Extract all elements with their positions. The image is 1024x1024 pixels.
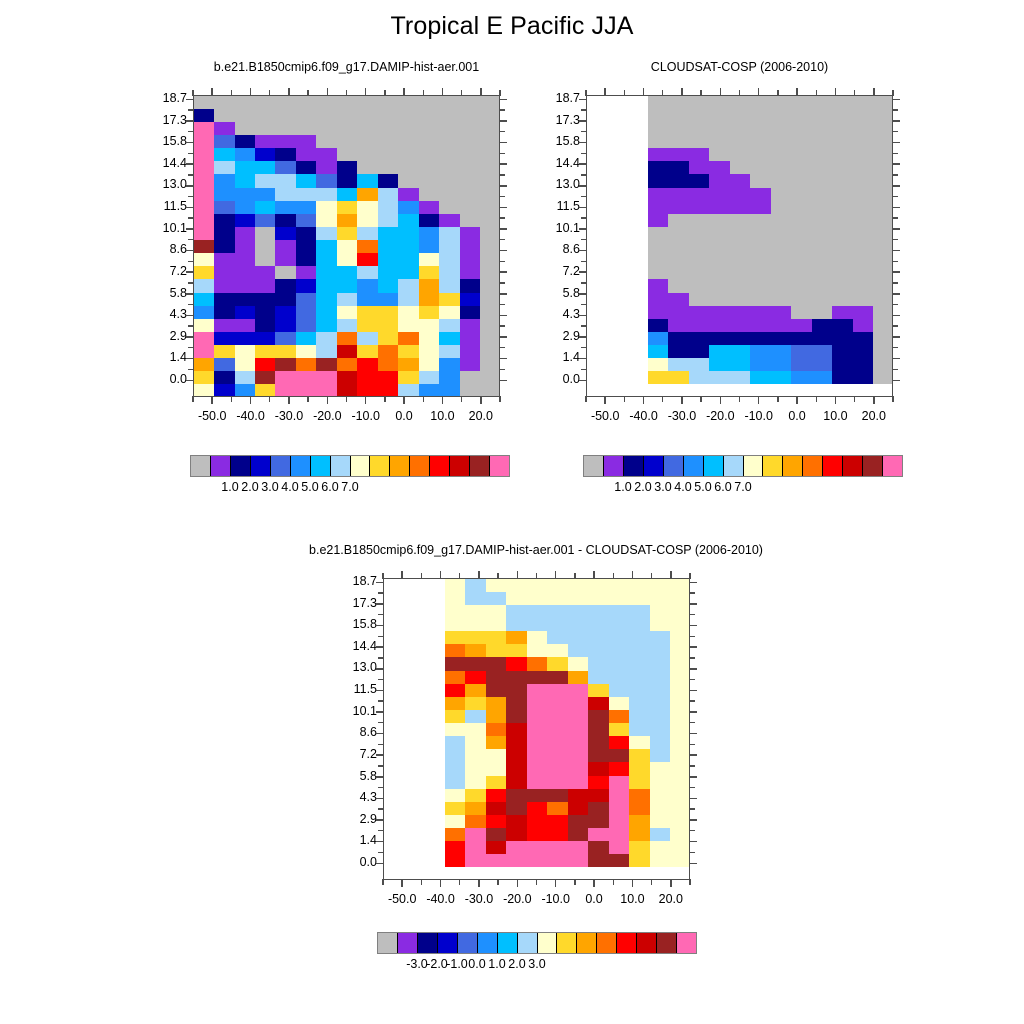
diff-xtick-minor [670,573,671,579]
heatmap-cell [629,841,650,855]
heatmap-cell [425,710,446,724]
colorbar-swatch[interactable] [490,456,509,476]
heatmap-cell [709,240,730,254]
heatmap-cell [812,122,833,136]
heatmap-cell [812,148,833,162]
heatmap-cell [527,605,548,619]
colorbar-swatch[interactable] [843,456,863,476]
heatmap-cell [486,618,507,632]
obs-xtick-label: 20.0 [844,409,904,423]
colorbar-swatch[interactable] [398,933,418,953]
obs-ytick [579,163,587,165]
colorbar-swatch[interactable] [351,456,371,476]
heatmap-cell [750,306,771,320]
colorbar-tick-label: 7.0 [325,480,375,494]
heatmap-cell [255,109,276,123]
colorbar-swatch[interactable] [311,456,331,476]
model-ytick-minor [188,369,194,370]
colorbar-swatch[interactable] [390,456,410,476]
heatmap-cell [609,802,630,816]
heatmap-cell [832,227,853,241]
colorbar-swatch[interactable] [863,456,883,476]
heatmap-cell [812,371,833,385]
heatmap-cell [812,188,833,202]
panel-diff-title: b.e21.B1850cmip6.f09_g17.DAMIP-hist-aer.… [236,543,836,557]
heatmap-cell [235,214,256,228]
model-ytick-label: 2.9 [137,329,187,343]
heatmap-cell [296,148,317,162]
heatmap-cell [873,96,893,110]
heatmap-cell [568,776,589,790]
colorbar-swatch[interactable] [430,456,450,476]
obs-ytick-right [892,293,900,295]
heatmap-cell [439,293,460,307]
heatmap-cell [709,135,730,149]
heatmap-cell [384,828,405,842]
heatmap-cell [316,214,337,228]
obs-xtick-minor [854,90,855,96]
heatmap-cell [771,201,792,215]
heatmap-cell [255,188,276,202]
plot-area-obs[interactable] [586,95,893,397]
heatmap-cell [832,161,853,175]
heatmap-cell [337,266,358,280]
heatmap-cell [275,227,296,241]
heatmap-cell [648,135,669,149]
heatmap-cell [588,579,609,593]
colorbar-swatch[interactable] [604,456,624,476]
heatmap-cell [296,332,317,346]
heatmap-cell [214,122,235,136]
diff-ytick-minor [378,787,384,788]
heatmap-cell [527,828,548,842]
obs-ytick [579,142,587,144]
heatmap-cell [527,592,548,606]
colorbar-swatch[interactable] [637,933,657,953]
obs-ytick-label: 8.6 [530,242,580,256]
colorbar-swatch[interactable] [724,456,744,476]
diff-xtick-minor [382,573,383,579]
heatmap-cell [730,227,751,241]
heatmap-cell [587,201,608,215]
heatmap-cell [194,240,215,254]
heatmap-cell [689,96,710,110]
colorbar-swatch[interactable] [677,933,696,953]
heatmap-cell [628,253,649,267]
heatmap-cell [439,188,460,202]
heatmap-cell [255,96,276,110]
heatmap-cell [587,253,608,267]
heatmap-cell [629,828,650,842]
diff-ytick-minor [689,765,695,766]
diff-xtick-minor [689,879,690,885]
heatmap-cell [730,371,751,385]
heatmap-cell [419,188,440,202]
heatmap-cell [670,802,690,816]
heatmap-cell [378,319,399,333]
heatmap-cell [568,762,589,776]
heatmap-cell [480,384,500,397]
heatmap-cell [486,749,507,763]
heatmap-cell [404,631,425,645]
heatmap-cell [465,592,486,606]
heatmap-cell [689,122,710,136]
diff-ytick [376,711,384,713]
colorbar-obs[interactable] [583,455,903,477]
colorbar-swatch[interactable] [450,456,470,476]
heatmap-cell [235,371,256,385]
obs-ytick-minor [892,109,898,110]
heatmap-cell [460,319,481,333]
obs-ytick-right [892,185,900,187]
heatmap-cell [255,319,276,333]
heatmap-cell [771,109,792,123]
heatmap-cell [791,227,812,241]
heatmap-cell [460,371,481,385]
colorbar-swatch[interactable] [557,933,577,953]
colorbar-swatch[interactable] [410,456,430,476]
heatmap-cell [486,854,507,868]
heatmap-cell [587,174,608,188]
diff-ytick-label: 7.2 [327,747,377,761]
heatmap-cell [750,345,771,359]
heatmap-cell [629,605,650,619]
diff-xtick-minor [382,879,383,885]
heatmap-cell [527,671,548,685]
colorbar-swatch[interactable] [763,456,783,476]
colorbar-swatch[interactable] [458,933,478,953]
heatmap-cell [628,358,649,372]
colorbar-swatch[interactable] [291,456,311,476]
heatmap-cell [689,332,710,346]
heatmap-cell [194,358,215,372]
heatmap-cell [296,253,317,267]
colorbar-swatch[interactable] [370,456,390,476]
colorbar-swatch[interactable] [378,933,398,953]
heatmap-cell [832,371,853,385]
heatmap-cell [337,148,358,162]
heatmap-cell [255,253,276,267]
heatmap-cell [587,214,608,228]
heatmap-cell [439,358,460,372]
obs-ytick-minor [581,239,587,240]
heatmap-cell [812,358,833,372]
model-ytick [186,315,194,317]
heatmap-cell [465,579,486,593]
heatmap-cell [235,306,256,320]
heatmap-cell [628,240,649,254]
heatmap-cell [486,828,507,842]
diff-ytick-label: 18.7 [327,574,377,588]
heatmap-cell [791,188,812,202]
heatmap-cell [384,592,405,606]
heatmap-cell [668,109,689,123]
heatmap-cell [480,293,500,307]
heatmap-cell [607,214,628,228]
heatmap-cell [629,815,650,829]
heatmap-cell [689,306,710,320]
heatmap-cell [425,618,446,632]
heatmap-cell [670,749,690,763]
colorbar-swatch[interactable] [783,456,803,476]
obs-ytick-minor [892,174,898,175]
obs-ytick-minor [581,369,587,370]
heatmap-cell [668,266,689,280]
heatmap-cell [445,697,466,711]
heatmap-cell [235,227,256,241]
colorbar-swatch[interactable] [271,456,291,476]
plot-area-diff[interactable] [383,578,690,880]
colorbar-swatch[interactable] [251,456,271,476]
heatmap-cell [506,592,527,606]
model-ytick [186,336,194,338]
heatmap-cell [486,671,507,685]
heatmap-cell [873,345,893,359]
heatmap-cell [750,332,771,346]
colorbar-swatch[interactable] [331,456,351,476]
obs-ytick-right [892,142,900,144]
heatmap-cell [853,384,874,397]
heatmap-cell [194,253,215,267]
heatmap-cell [506,854,527,868]
colorbar-swatch[interactable] [538,933,558,953]
heatmap-cell [607,345,628,359]
heatmap-cell [214,319,235,333]
heatmap-cell [650,605,671,619]
heatmap-cell [588,644,609,658]
colorbar-diff[interactable] [377,932,697,954]
heatmap-cell [425,828,446,842]
colorbar-swatch[interactable] [657,933,677,953]
heatmap-cell [425,697,446,711]
heatmap-cell [607,306,628,320]
heatmap-cell [419,174,440,188]
model-xtick-minor [384,396,385,402]
colorbar-swatch[interactable] [231,456,251,476]
heatmap-cell [670,762,690,776]
heatmap-cell [465,631,486,645]
model-xtick-minor [461,396,462,402]
colorbar-swatch[interactable] [624,456,644,476]
heatmap-cell [445,762,466,776]
heatmap-cell [628,279,649,293]
heatmap-cell [607,240,628,254]
heatmap-cell [750,109,771,123]
heatmap-cell [425,815,446,829]
heatmap-cell [629,592,650,606]
obs-xtick-minor [720,90,721,96]
diff-xtick-minor [670,879,671,885]
model-ytick-minor [188,325,194,326]
heatmap-cell [791,122,812,136]
colorbar-swatch[interactable] [577,933,597,953]
obs-xtick-minor [758,396,759,402]
heatmap-cell [296,135,317,149]
heatmap-cell [750,201,771,215]
heatmap-cell [587,161,608,175]
heatmap-cell [648,201,669,215]
heatmap-cell [460,266,481,280]
heatmap-cell [486,579,507,593]
heatmap-cell [255,227,276,241]
heatmap-cell [853,135,874,149]
heatmap-cell [255,214,276,228]
heatmap-cell [689,371,710,385]
heatmap-cell [398,358,419,372]
heatmap-cell [337,319,358,333]
colorbar-model[interactable] [190,455,510,477]
colorbar-swatch[interactable] [684,456,704,476]
heatmap-cell [547,605,568,619]
diff-ytick-minor [378,765,384,766]
diff-ytick-minor [378,592,384,593]
heatmap-cell [275,306,296,320]
heatmap-cell [873,174,893,188]
heatmap-cell [296,306,317,320]
colorbar-swatch[interactable] [418,933,438,953]
heatmap-cell [670,828,690,842]
heatmap-cell [609,854,630,868]
heatmap-cell [480,214,500,228]
model-ytick-minor [188,239,194,240]
heatmap-cell [384,657,405,671]
colorbar-swatch[interactable] [704,456,724,476]
heatmap-cell [668,371,689,385]
heatmap-cell [873,148,893,162]
heatmap-cell [853,266,874,280]
heatmap-cell [398,135,419,149]
heatmap-cell [607,358,628,372]
colorbar-swatch[interactable] [883,456,902,476]
colorbar-swatch[interactable] [617,933,637,953]
obs-ytick-right [892,336,900,338]
diff-xtick-label: 20.0 [641,892,701,906]
heatmap-cell [235,109,256,123]
heatmap-cell [832,306,853,320]
heatmap-cell [832,148,853,162]
colorbar-swatch[interactable] [470,456,490,476]
heatmap-cell [709,96,730,110]
heatmap-cell [628,188,649,202]
heatmap-cell [771,161,792,175]
heatmap-cell [275,384,296,397]
heatmap-cell [316,201,337,215]
heatmap-cell [194,214,215,228]
heatmap-cell [650,776,671,790]
heatmap-cell [275,371,296,385]
heatmap-cell [378,214,399,228]
colorbar-swatch[interactable] [644,456,664,476]
heatmap-cell [587,240,608,254]
heatmap-cell [486,644,507,658]
colorbar-swatch[interactable] [803,456,823,476]
heatmap-cell [607,332,628,346]
heatmap-cell [214,227,235,241]
heatmap-cell [296,358,317,372]
colorbar-swatch[interactable] [478,933,498,953]
heatmap-cell [668,240,689,254]
model-ytick-label: 0.0 [137,372,187,386]
heatmap-cell [527,657,548,671]
model-ytick-minor [188,217,194,218]
diff-ytick-minor [378,808,384,809]
plot-area-model[interactable] [193,95,500,397]
model-ytick [186,142,194,144]
heatmap-cell [439,306,460,320]
heatmap-cell [832,174,853,188]
colorbar-swatch[interactable] [597,933,617,953]
heatmap-cell [255,306,276,320]
obs-ytick [579,250,587,252]
colorbar-swatch[interactable] [211,456,231,476]
heatmap-cell [547,867,568,880]
obs-ytick-right [892,228,900,230]
heatmap-cell [628,122,649,136]
heatmap-cell [384,736,405,750]
diff-xtick-minor [651,573,652,579]
colorbar-swatch[interactable] [438,933,458,953]
diff-ytick-label: 0.0 [327,855,377,869]
heatmap-cell [384,579,405,593]
heatmap-cell [465,789,486,803]
heatmap-cell [547,841,568,855]
heatmap-cell [609,710,630,724]
heatmap-cell [439,240,460,254]
heatmap-cell [357,174,378,188]
obs-xtick-minor [681,90,682,96]
heatmap-cell [588,671,609,685]
heatmap-cell [275,188,296,202]
heatmap-cell [547,631,568,645]
colorbar-swatch[interactable] [191,456,211,476]
colorbar-swatch[interactable] [664,456,684,476]
heatmap-cell [853,96,874,110]
obs-ytick [579,271,587,273]
heatmap-cell [547,671,568,685]
heatmap-cell [316,96,337,110]
colorbar-swatch[interactable] [584,456,604,476]
heatmap-cell [750,174,771,188]
heatmap-cell [445,592,466,606]
heatmap-cell [547,592,568,606]
heatmap-cell [296,214,317,228]
heatmap-cell [587,227,608,241]
heatmap-cell [480,135,500,149]
heatmap-cell [419,253,440,267]
heatmap-cell [460,240,481,254]
heatmap-cell [465,815,486,829]
heatmap-cell [607,293,628,307]
colorbar-swatch[interactable] [823,456,843,476]
diff-ytick-right [689,646,697,648]
heatmap-cell [609,657,630,671]
diff-ytick-label: 10.1 [327,704,377,718]
heatmap-cell [460,135,481,149]
heatmap-cell [689,174,710,188]
colorbar-swatch[interactable] [518,933,538,953]
heatmap-cell [445,618,466,632]
heatmap-cell [357,96,378,110]
heatmap-cell [629,749,650,763]
heatmap-cell [609,828,630,842]
heatmap-cell [628,214,649,228]
model-xtick-label: 20.0 [451,409,511,423]
heatmap-cell [439,279,460,293]
heatmap-cell [709,109,730,123]
colorbar-swatch[interactable] [498,933,518,953]
colorbar-swatch[interactable] [744,456,764,476]
heatmap-cell [832,122,853,136]
